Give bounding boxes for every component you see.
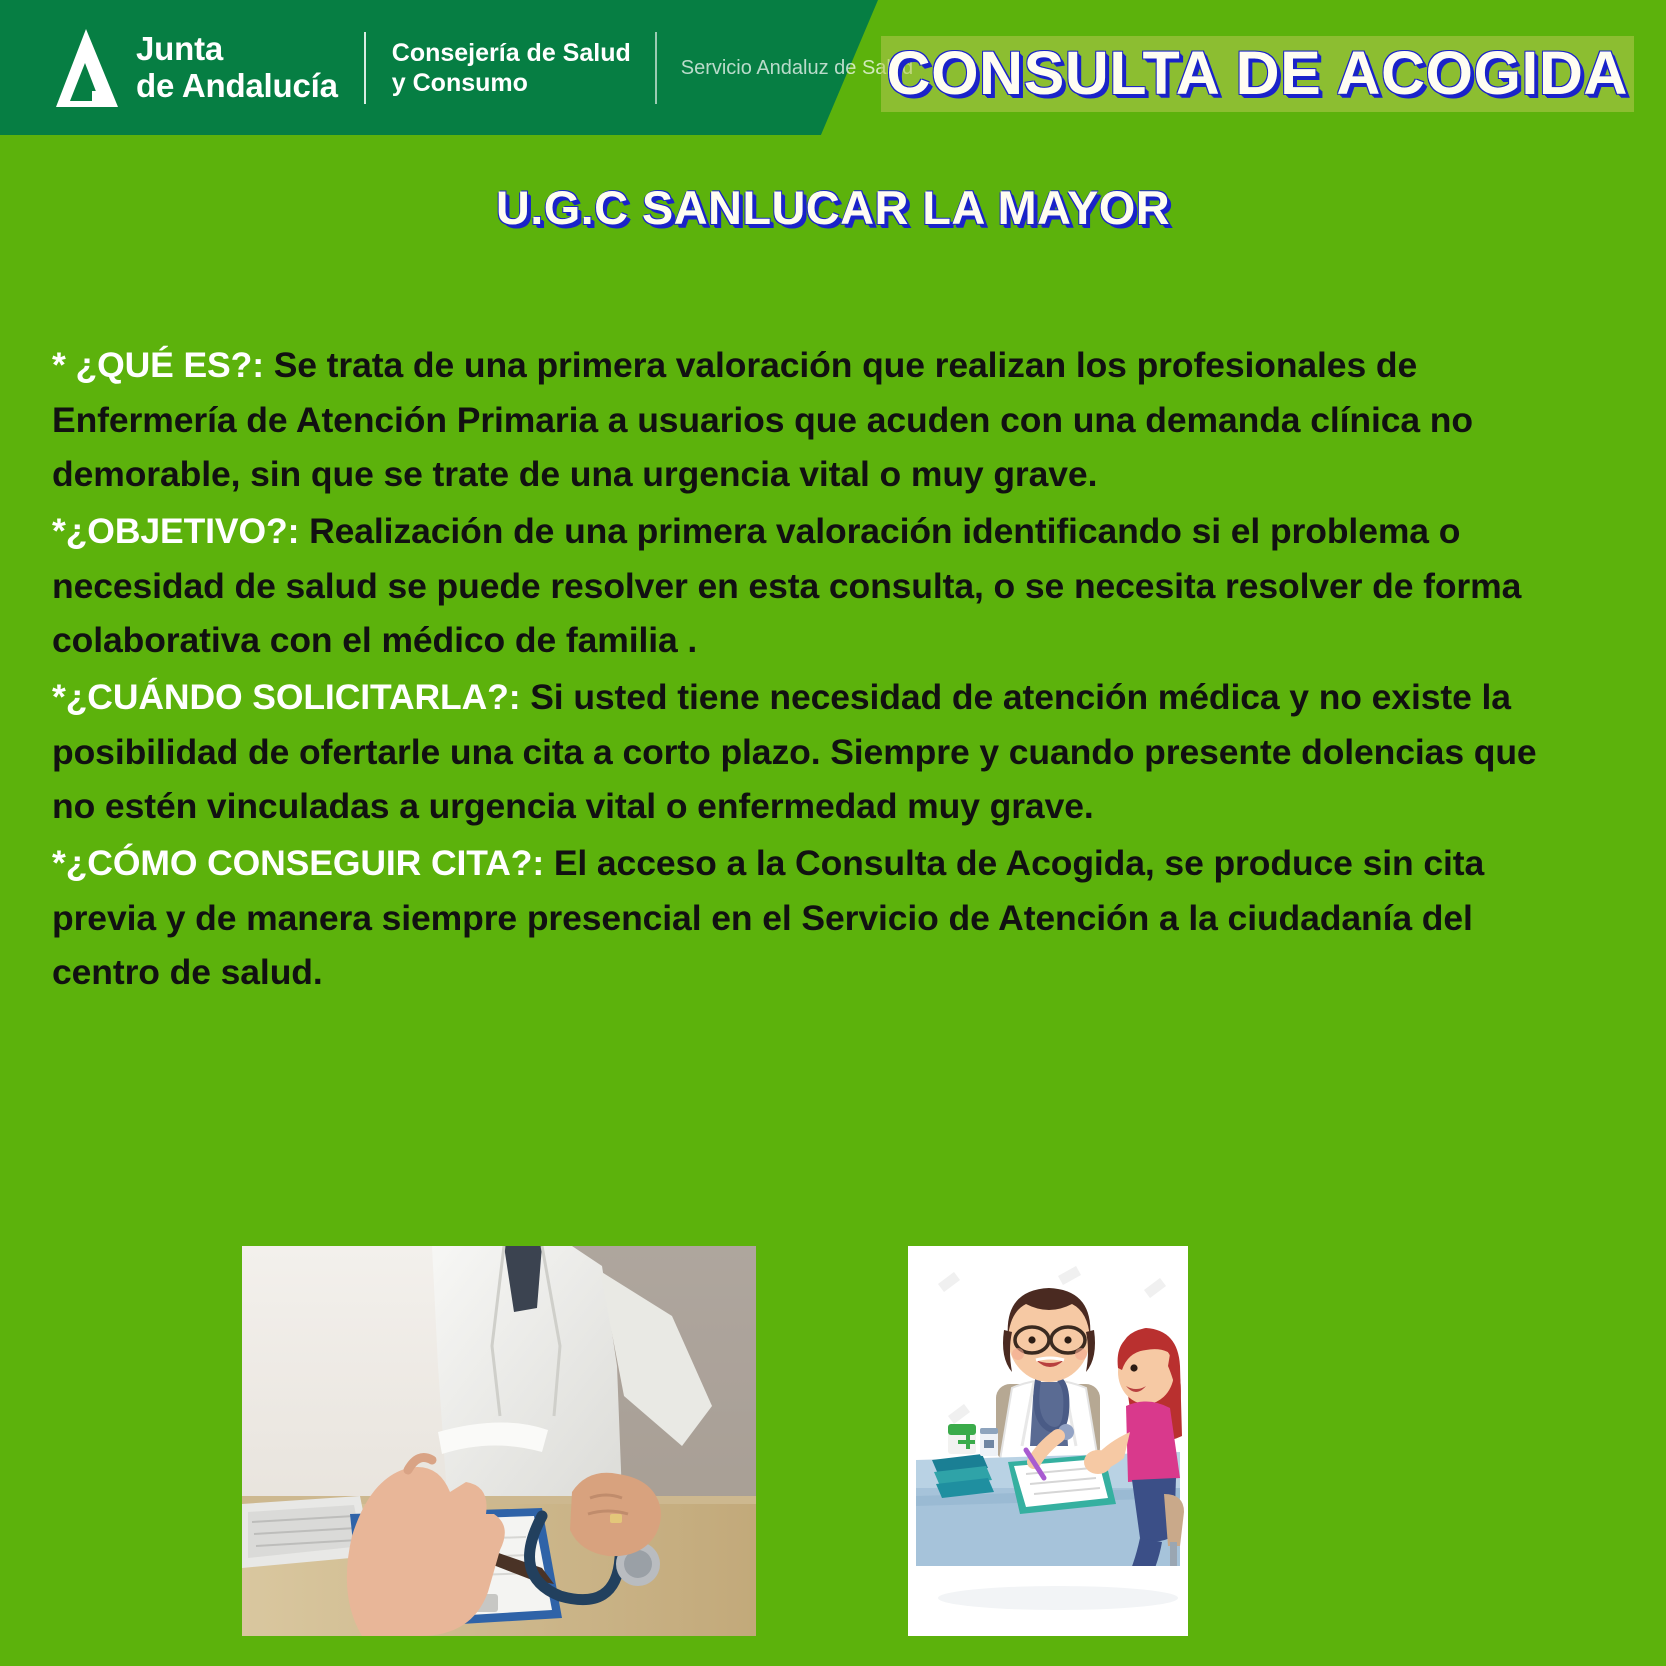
section-objetivo-lead: *¿OBJETIVO?:	[52, 511, 309, 551]
junta-de-andalucia-a-logo	[52, 27, 122, 109]
section-objetivo: *¿OBJETIVO?: Realización de una primera …	[52, 504, 1552, 668]
servicio-andaluz-de-salud-label: Servicio Andaluz de Salud	[681, 57, 913, 80]
main-title-highlight: CONSULTA DE ACOGIDA	[881, 36, 1634, 112]
section-como-conseguir-cita: *¿CÓMO CONSEGUIR CITA?: El acceso a la C…	[52, 836, 1552, 1000]
section-que-es-lead: * ¿QUÉ ES?:	[52, 345, 274, 385]
consejeria-line-1: Consejería de Salud	[392, 38, 631, 69]
logo-divider-1	[364, 32, 366, 104]
photo-doctor-desk	[242, 1246, 756, 1636]
institutional-logo-row: Junta de Andalucía Consejería de Salud y…	[52, 22, 913, 114]
section-como-conseguir-cita-lead: *¿CÓMO CONSEGUIR CITA?:	[52, 843, 554, 883]
logo-line-2: de Andalucía	[136, 68, 338, 105]
logo-divider-2	[655, 32, 657, 104]
section-que-es: * ¿QUÉ ES?: Se trata de una primera valo…	[52, 338, 1552, 502]
main-title: CONSULTA DE ACOGIDA	[887, 38, 1628, 108]
poster-canvas: Junta de Andalucía Consejería de Salud y…	[0, 0, 1666, 1666]
consejeria-block: Consejería de Salud y Consumo	[392, 38, 631, 99]
logo-line-1: Junta	[136, 31, 338, 68]
section-cuando-solicitarla-lead: *¿CUÁNDO SOLICITARLA?:	[52, 677, 530, 717]
subtitle-ugc: U.G.C SANLUCAR LA MAYOR	[0, 180, 1666, 235]
body-copy: * ¿QUÉ ES?: Se trata de una primera valo…	[52, 338, 1552, 1002]
section-cuando-solicitarla: *¿CUÁNDO SOLICITARLA?: Si usted tiene ne…	[52, 670, 1552, 834]
consejeria-line-2: y Consumo	[392, 68, 631, 99]
logo-wordmark: Junta de Andalucía	[136, 31, 338, 105]
illustration-doctor-patient	[908, 1246, 1188, 1636]
